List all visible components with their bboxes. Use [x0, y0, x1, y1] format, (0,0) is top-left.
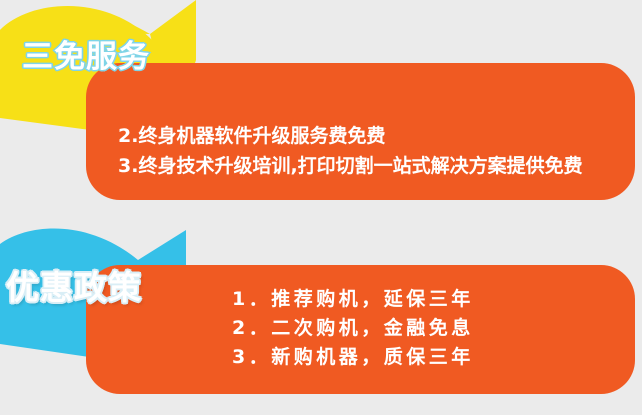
list-item: 1．推荐购机，延保三年	[232, 285, 474, 314]
list-item: 3．新购机器，质保三年	[232, 343, 474, 372]
service-list-top: 2.终身机器软件升级服务费免费 3.终身技术升级培训,打印切割一站式解决方案提供…	[118, 121, 583, 181]
list-item: 2.终身机器软件升级服务费免费	[118, 121, 583, 151]
yellow-flag-shape	[0, 0, 196, 42]
list-item: 3.终身技术升级培训,打印切割一站式解决方案提供免费	[118, 151, 583, 181]
list-item: 2．二次购机，金融免息	[232, 314, 474, 343]
section-title-free-services: 三免服务	[22, 40, 150, 74]
service-list-bottom: 1．推荐购机，延保三年 2．二次购机，金融免息 3．新购机器，质保三年	[232, 285, 474, 372]
section-title-discount-policy: 优惠政策	[6, 270, 142, 306]
promo-poster: 三免服务 优惠政策 2.终身机器软件升级服务费免费 3.终身技术升级培训,打印切…	[0, 0, 642, 415]
